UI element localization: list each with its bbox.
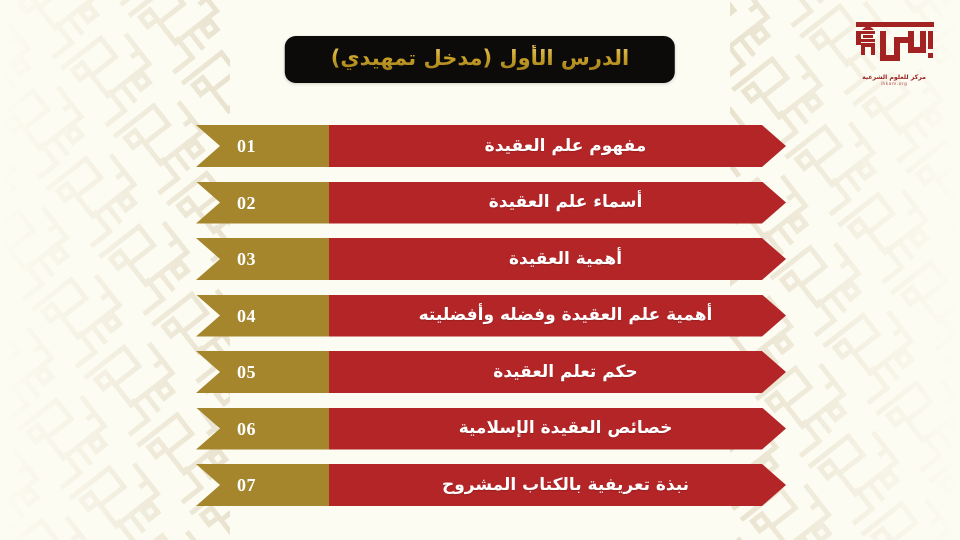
topic-label: نبذة تعريفية بالكتاب المشروح	[442, 475, 689, 495]
topic-number: 03	[237, 250, 264, 268]
ihkam-wordmark-icon	[842, 17, 946, 73]
list-item[interactable]: حكم تعلم العقيدة 05	[172, 351, 786, 393]
list-item[interactable]: أسماء علم العقيدة 02	[172, 182, 786, 224]
topic-label-block[interactable]: نبذة تعريفية بالكتاب المشروح	[329, 464, 786, 506]
topic-label: أسماء علم العقيدة	[489, 192, 643, 212]
topic-label-block[interactable]: حكم تعلم العقيدة	[329, 351, 786, 393]
topic-number: 07	[237, 476, 264, 494]
topic-number: 05	[237, 363, 264, 381]
topic-label: حكم تعلم العقيدة	[493, 362, 637, 382]
slide-title-pill: الدرس الأول (مدخل تمهيدي)	[285, 36, 675, 83]
topic-number-block: 02	[172, 182, 329, 224]
topic-label-block[interactable]: مفهوم علم العقيدة	[329, 125, 786, 167]
topic-number-block: 03	[172, 238, 329, 280]
topic-label: مفهوم علم العقيدة	[485, 136, 647, 156]
list-item[interactable]: نبذة تعريفية بالكتاب المشروح 07	[172, 464, 786, 506]
topic-number: 02	[237, 194, 264, 212]
topic-label: أهمية العقيدة	[509, 249, 622, 269]
logo-url: ihkam.org	[842, 82, 946, 88]
list-item[interactable]: أهمية العقيدة 03	[172, 238, 786, 280]
topic-number: 04	[237, 307, 264, 325]
topic-label-block[interactable]: أهمية العقيدة	[329, 238, 786, 280]
lesson-topic-list: مفهوم علم العقيدة 01 أسماء علم العقيدة 0…	[172, 125, 786, 506]
topic-number-block: 07	[172, 464, 329, 506]
topic-number-block: 06	[172, 408, 329, 450]
topic-label: خصائص العقيدة الإسلامية	[459, 418, 673, 438]
page-title: الدرس الأول (مدخل تمهيدي)	[331, 45, 629, 71]
topic-label-block[interactable]: أهمية علم العقيدة وفضله وأفضليته	[329, 295, 786, 337]
topic-number: 06	[237, 420, 264, 438]
brand-logo: مركز للعلوم الشرعية ihkam.org	[842, 17, 946, 97]
list-item[interactable]: أهمية علم العقيدة وفضله وأفضليته 04	[172, 295, 786, 337]
topic-number-block: 05	[172, 351, 329, 393]
list-item[interactable]: خصائص العقيدة الإسلامية 06	[172, 408, 786, 450]
slide-title-container: الدرس الأول (مدخل تمهيدي)	[285, 36, 675, 83]
topic-label-block[interactable]: أسماء علم العقيدة	[329, 182, 786, 224]
topic-label-block[interactable]: خصائص العقيدة الإسلامية	[329, 408, 786, 450]
list-item[interactable]: مفهوم علم العقيدة 01	[172, 125, 786, 167]
topic-number: 01	[237, 137, 264, 155]
slide-canvas: مركز للعلوم الشرعية ihkam.org الدرس الأو…	[0, 0, 960, 540]
topic-label: أهمية علم العقيدة وفضله وأفضليته	[419, 305, 713, 325]
topic-number-block: 01	[172, 125, 329, 167]
topic-number-block: 04	[172, 295, 329, 337]
